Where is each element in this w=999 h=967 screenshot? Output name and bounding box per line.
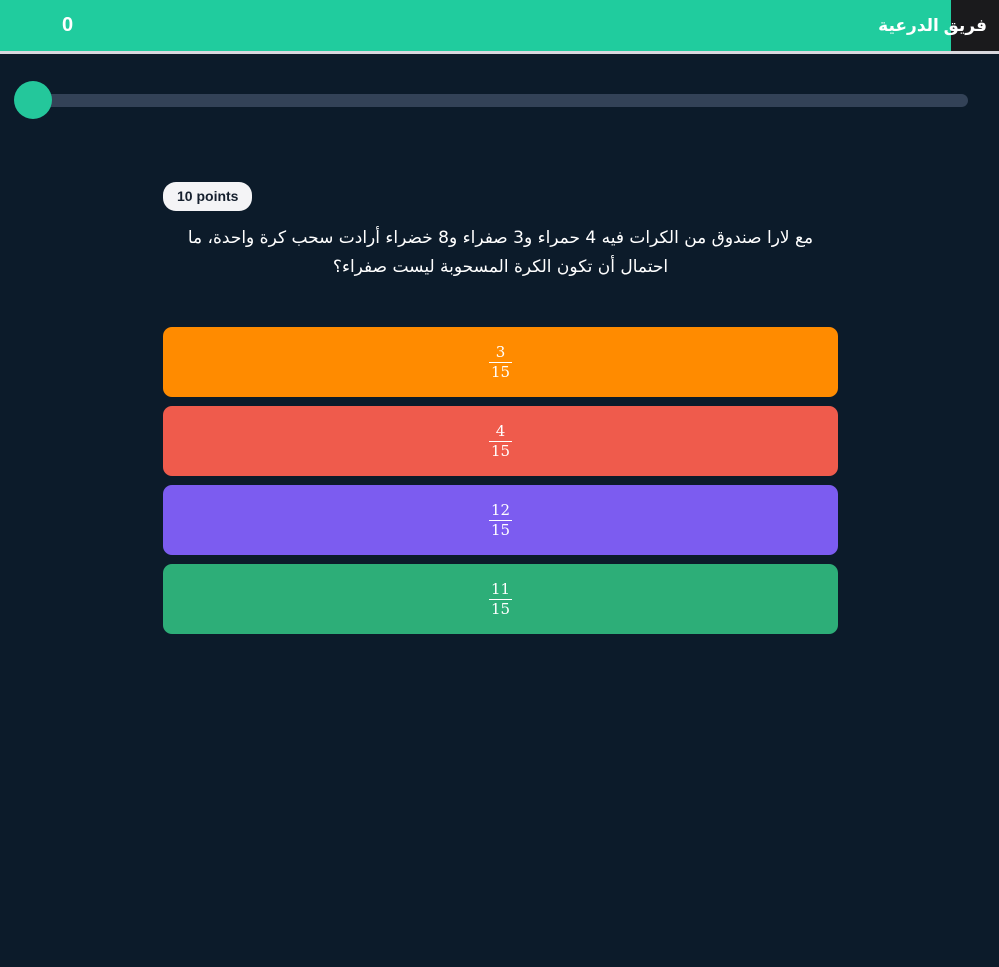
fraction-denominator: 15 <box>489 600 512 618</box>
answer-option-4[interactable]: 11 15 <box>163 564 838 634</box>
answer-option-2[interactable]: 4 15 <box>163 406 838 476</box>
answer-option-3[interactable]: 12 15 <box>163 485 838 555</box>
fraction-numerator: 11 <box>489 581 512 600</box>
header-team-strip <box>0 0 951 51</box>
answer-options-list: 3 15 4 15 12 15 11 15 <box>163 327 838 634</box>
header-divider <box>0 51 999 54</box>
progress-track <box>32 94 968 107</box>
fraction-denominator: 15 <box>489 521 512 539</box>
fraction-denominator: 15 <box>489 442 512 460</box>
fraction-value: 4 15 <box>489 423 512 460</box>
fraction-value: 3 15 <box>489 344 512 381</box>
quiz-header-bar: فريق الدرعية 0 <box>0 0 999 52</box>
fraction-value: 11 15 <box>489 581 512 618</box>
team-name-label: فريق الدرعية <box>878 0 987 51</box>
progress-bar[interactable] <box>14 81 970 119</box>
fraction-numerator: 3 <box>489 344 512 363</box>
fraction-denominator: 15 <box>489 363 512 381</box>
fraction-value: 12 15 <box>489 502 512 539</box>
fraction-numerator: 12 <box>489 502 512 521</box>
question-text: مع لارا صندوق من الكرات فيه 4 حمراء و3 ص… <box>163 224 838 282</box>
team-score-value: 0 <box>62 0 73 51</box>
answer-option-1[interactable]: 3 15 <box>163 327 838 397</box>
progress-thumb[interactable] <box>14 81 52 119</box>
points-badge: 10 points <box>163 182 252 211</box>
fraction-numerator: 4 <box>489 423 512 442</box>
